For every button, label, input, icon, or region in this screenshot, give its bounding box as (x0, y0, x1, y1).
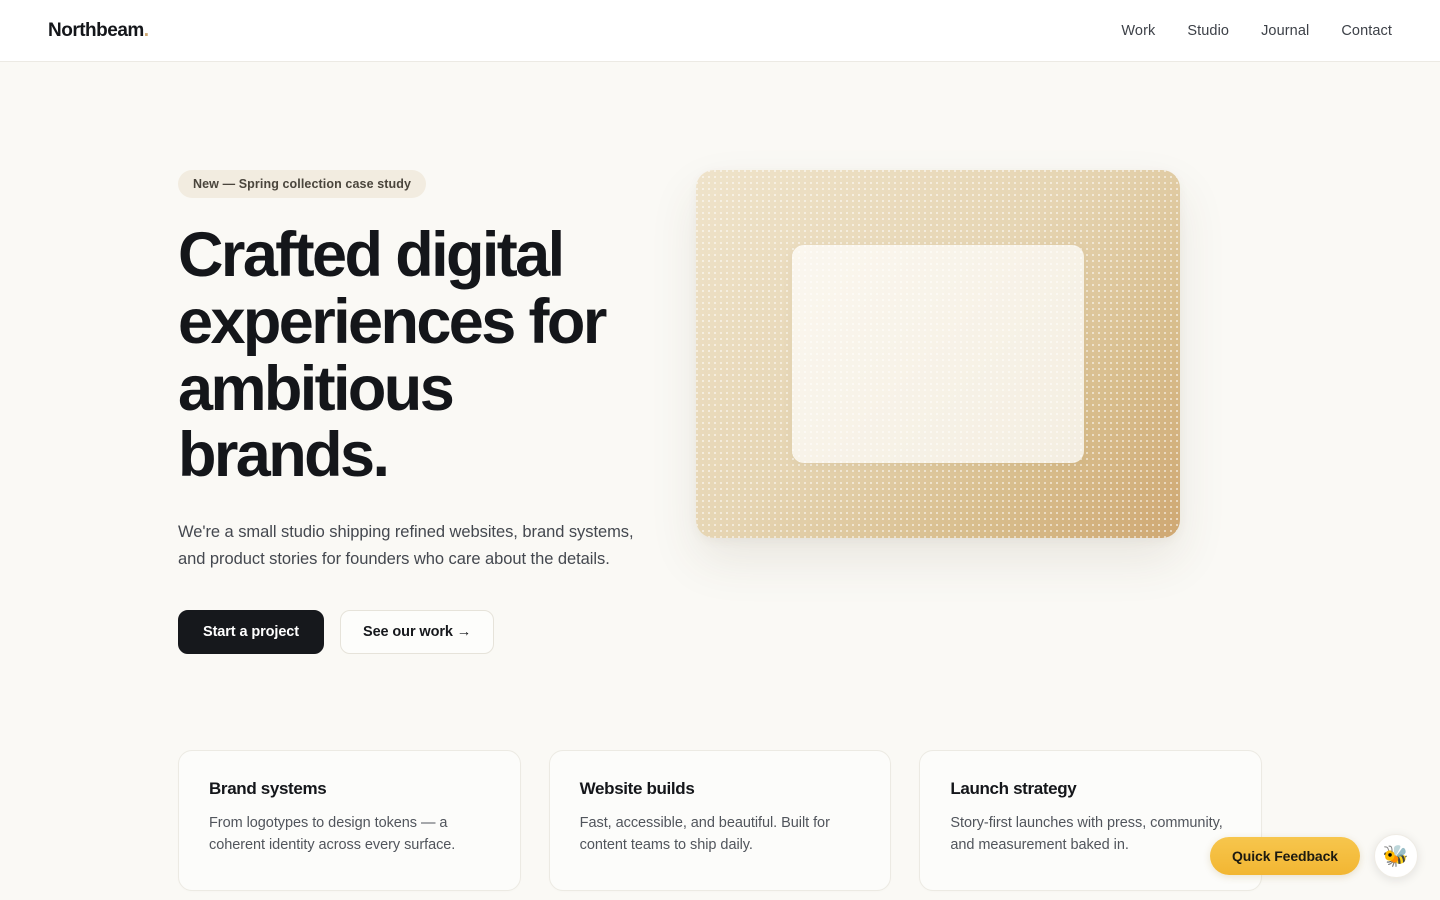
site-header: Northbeam. Work Studio Journal Contact (0, 0, 1440, 62)
feature-title: Website builds (580, 779, 861, 799)
feature-description: Story-first launches with press, communi… (950, 812, 1231, 856)
hero-section: New — Spring collection case study Craft… (0, 62, 1440, 654)
hero-gradient-card (696, 170, 1180, 538)
nav-item-work[interactable]: Work (1121, 23, 1155, 39)
hero-inner-panel (792, 245, 1084, 463)
feature-title: Brand systems (209, 779, 490, 799)
hero-subtitle: We're a small studio shipping refined we… (178, 519, 648, 574)
main-navigation: Work Studio Journal Contact (1121, 23, 1392, 39)
feature-description: From logotypes to design tokens — a cohe… (209, 812, 490, 856)
see-our-work-button[interactable]: See our work → (340, 610, 494, 654)
feature-description: Fast, accessible, and beautiful. Built f… (580, 812, 861, 856)
bee-icon[interactable]: 🐝 (1374, 834, 1418, 878)
quick-feedback-button[interactable]: Quick Feedback (1210, 837, 1360, 875)
nav-item-journal[interactable]: Journal (1261, 23, 1309, 39)
hero-copy: New — Spring collection case study Craft… (48, 162, 648, 654)
hero-badge[interactable]: New — Spring collection case study (178, 170, 426, 198)
nav-item-contact[interactable]: Contact (1341, 23, 1392, 39)
logo-text: Northbeam (48, 20, 144, 42)
nav-item-studio[interactable]: Studio (1187, 23, 1229, 39)
logo[interactable]: Northbeam. (48, 20, 149, 42)
floating-widget-dock: Quick Feedback 🐝 (1210, 834, 1418, 878)
feature-card-website-builds[interactable]: Website builds Fast, accessible, and bea… (549, 750, 892, 891)
logo-dot: . (144, 20, 149, 42)
start-a-project-button[interactable]: Start a project (178, 610, 324, 654)
hero-visual-wrapper (696, 162, 1392, 538)
feature-card-brand-systems[interactable]: Brand systems From logotypes to design t… (178, 750, 521, 891)
feature-title: Launch strategy (950, 779, 1231, 799)
hero-actions: Start a project See our work → (178, 610, 648, 654)
page-title: Crafted digital experiences for ambitiou… (178, 222, 648, 489)
